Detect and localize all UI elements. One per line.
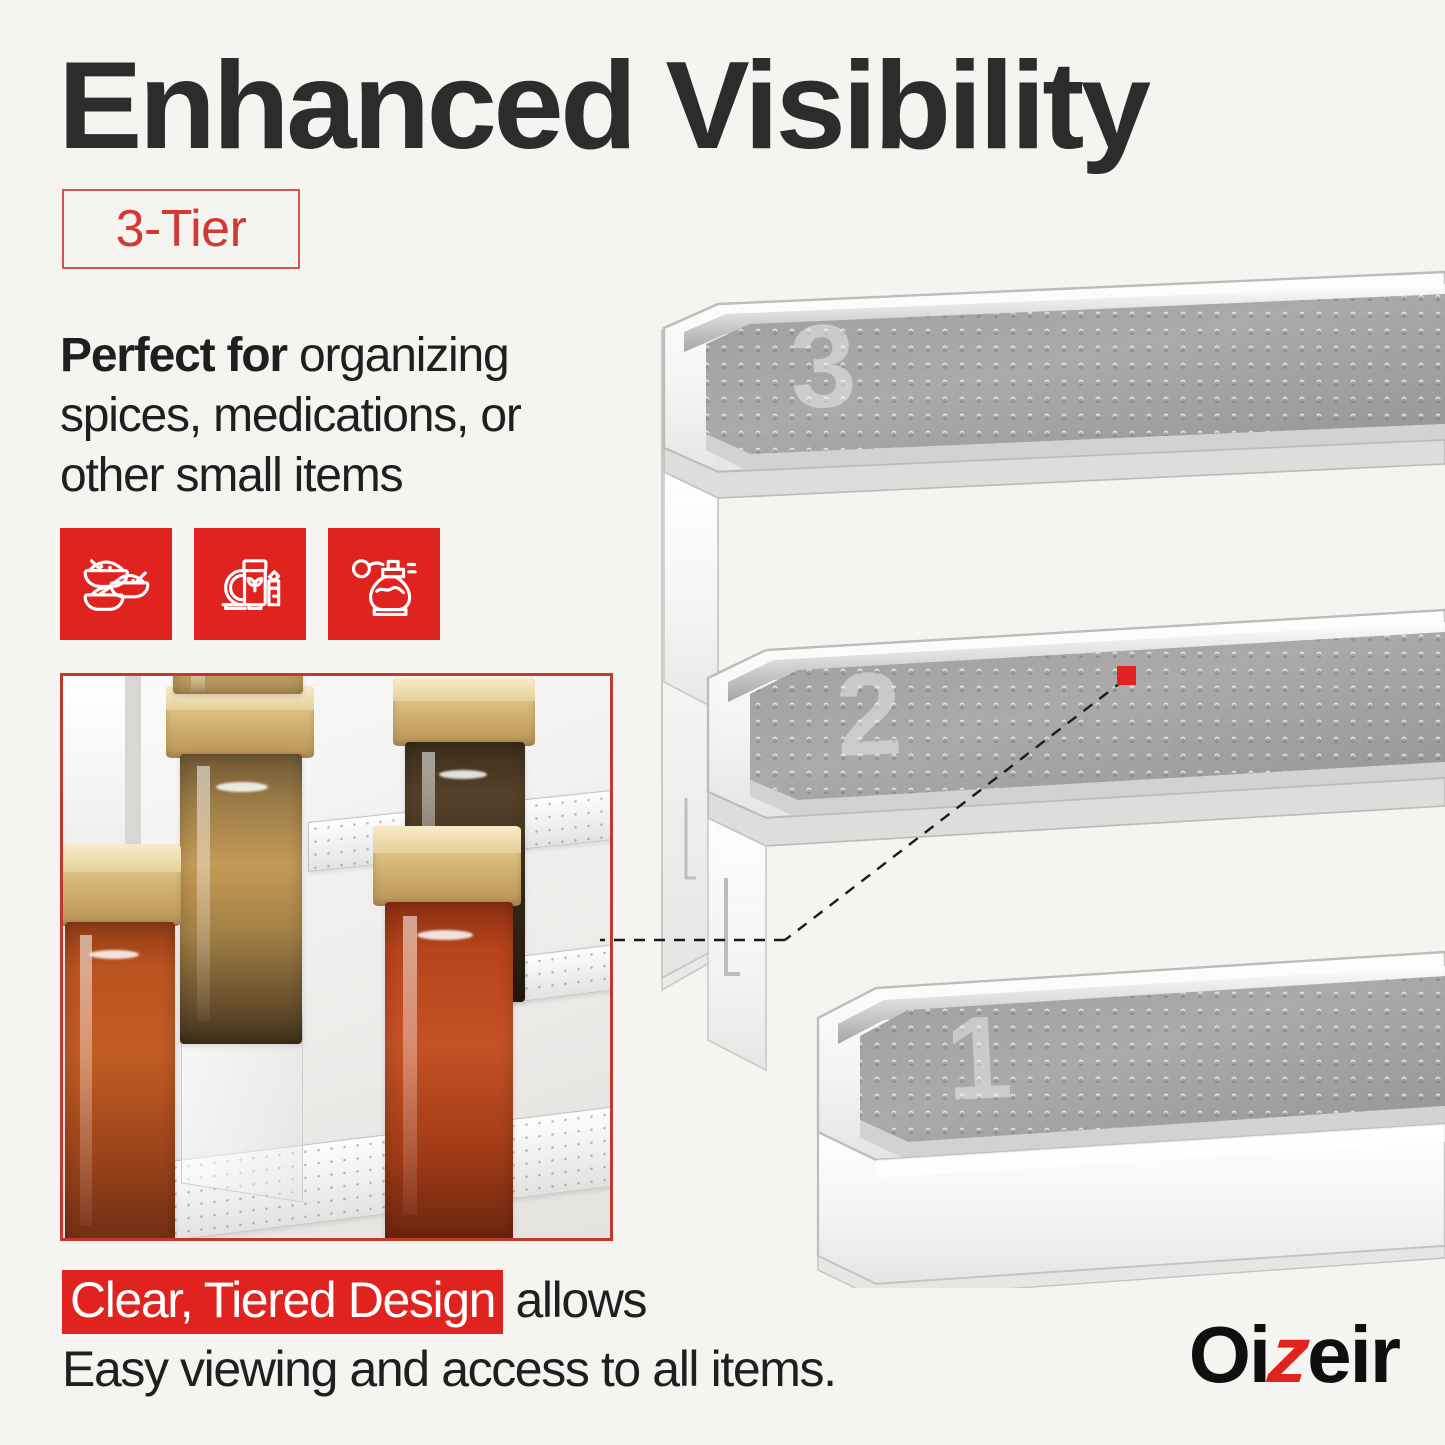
photo-jar-paprika-left-body	[65, 922, 175, 1241]
footer-copy: Clear, Tiered Design allows Easy viewing…	[62, 1272, 1002, 1402]
inset-product-photo	[60, 673, 613, 1241]
perfume-bottle-icon	[345, 545, 423, 623]
footer-after-highlight: allows	[503, 1272, 646, 1328]
poster-canvas: Enhanced Visibility 3-Tier Perfect for o…	[0, 0, 1445, 1445]
rack-tier-2: 2	[708, 610, 1445, 846]
tier-count-badge: 3-Tier	[62, 189, 300, 269]
photo-jar-sesame-lid	[166, 686, 314, 758]
footer-line-1: Clear, Tiered Design allows	[62, 1272, 1002, 1329]
inset-photo-scene	[63, 676, 610, 1238]
icon-tile-perfume	[328, 528, 440, 640]
rack-riser-lower	[708, 818, 766, 1070]
photo-jar-paprika-left-glint	[89, 950, 139, 959]
photo-jar-pepper-glint	[439, 770, 487, 779]
spice-bowls-icon	[77, 545, 155, 623]
tier-count-badge-label: 3-Tier	[116, 199, 247, 259]
tier-2-number: 2	[833, 647, 905, 782]
photo-jar-paprika-right-lid	[373, 826, 521, 906]
rack-tier-1: 1	[818, 952, 1445, 1288]
brand-logo-z: z	[1265, 1315, 1311, 1395]
hero-product-image: 3 2	[600, 258, 1445, 1288]
photo-backdrop-panel	[63, 676, 125, 861]
photo-jar-sesame-glint	[216, 782, 268, 792]
icon-tile-spices	[60, 528, 172, 640]
photo-jar-sesame-body	[180, 754, 302, 1044]
page-title: Enhanced Visibility	[58, 44, 1445, 168]
footer-highlight: Clear, Tiered Design	[62, 1270, 503, 1334]
photo-jar-paprika-right-glint	[417, 930, 473, 940]
photo-jar-paprika-right-body	[385, 902, 513, 1241]
rack-tier-3: 3	[664, 272, 1445, 498]
brand-logo-part2: eir	[1307, 1310, 1399, 1399]
brand-logo: Oizeir	[1189, 1315, 1399, 1395]
photo-jar-back-partial-body	[173, 673, 303, 694]
cosmetics-icon	[211, 545, 289, 623]
icon-tile-cosmetics	[194, 528, 306, 640]
photo-jar-paprika-left-lid	[60, 844, 181, 926]
footer-line-2: Easy viewing and access to all items.	[62, 1337, 1002, 1402]
tier-3-number: 3	[788, 299, 859, 434]
rack-riser-upper	[664, 472, 718, 710]
tier-1-number: 1	[943, 991, 1015, 1126]
lead-bold-prefix: Perfect for	[60, 329, 287, 382]
photo-jar-pepper-lid	[393, 678, 535, 746]
use-case-icon-row	[60, 528, 440, 640]
photo-backdrop-panel-edge	[125, 676, 141, 851]
brand-logo-part1: Oi	[1189, 1310, 1269, 1399]
lead-paragraph: Perfect for organizing spices, medicatio…	[60, 326, 620, 506]
